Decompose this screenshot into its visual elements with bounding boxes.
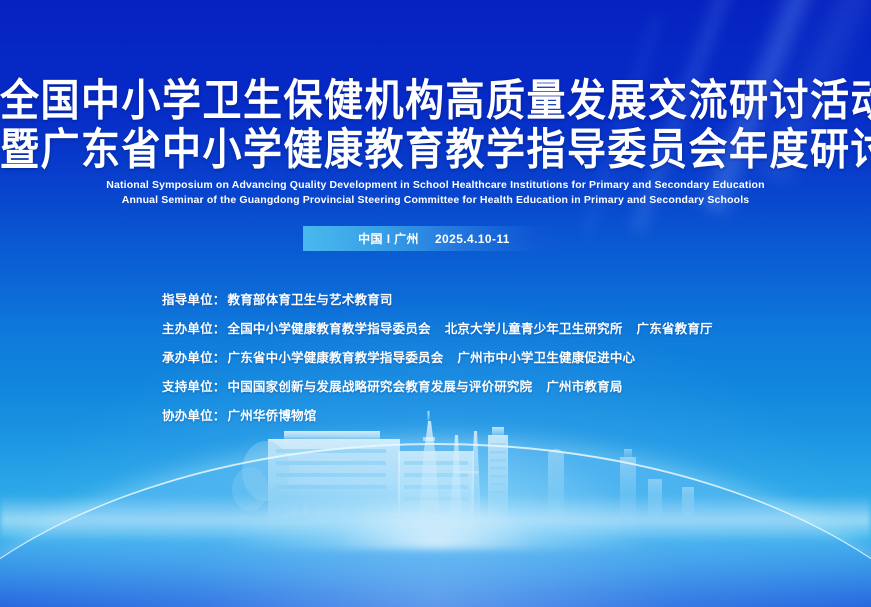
subtitle-line-1: National Symposium on Advancing Quality … [0, 178, 871, 193]
title-line-1: 全国中小学卫生保健机构高质量发展交流研讨活动 [0, 74, 871, 129]
org-values: 全国中小学健康教育教学指导委员会 北京大学儿童青少年卫生研究所 广东省教育厅 [228, 317, 713, 341]
org-row: 承办单位： 广东省中小学健康教育教学指导委员会 广州市中小学卫生健康促进中心 [162, 346, 713, 370]
org-label: 协办单位： [162, 404, 226, 428]
org-label: 主办单位： [162, 317, 226, 341]
org-row: 指导单位： 教育部体育卫生与艺术教育司 [162, 288, 713, 312]
org-values: 教育部体育卫生与艺术教育司 [228, 288, 393, 312]
org-row: 协办单位： 广州华侨博物馆 [162, 404, 713, 428]
title-line-2: 暨广东省中小学健康教育教学指导委员会年度研讨活动 [0, 123, 871, 178]
ifc-tower-icon [488, 427, 508, 517]
ground-mist [0, 495, 871, 541]
org-label: 指导单位： [162, 288, 226, 312]
org-label: 承办单位： [162, 346, 226, 370]
org-row: 支持单位： 中国国家创新与发展战略研究会教育发展与评价研究院 广州市教育局 [162, 375, 713, 399]
horizon-arc [0, 443, 871, 607]
conference-poster: 全国中小学卫生保健机构高质量发展交流研讨活动 暨广东省中小学健康教育教学指导委员… [0, 0, 871, 607]
org-values: 中国国家创新与发展战略研究会教育发展与评价研究院 广州市教育局 [228, 375, 623, 399]
org-values: 广州华侨博物馆 [228, 404, 317, 428]
org-value: 广东省中小学健康教育教学指导委员会 [228, 346, 444, 370]
banner-date: 2025.4.10-11 [435, 232, 510, 246]
org-value: 广州市教育局 [546, 375, 622, 399]
org-label: 支持单位： [162, 375, 226, 399]
org-value: 广州华侨博物馆 [228, 404, 317, 428]
banner-location: 中国 I 广州 [358, 230, 419, 247]
far-towers-icon [620, 449, 694, 517]
org-values: 广东省中小学健康教育教学指导委员会 广州市中小学卫生健康促进中心 [228, 346, 636, 370]
horizon-glow [226, 429, 646, 549]
org-value: 教育部体育卫生与艺术教育司 [228, 288, 393, 312]
org-value: 广州市中小学卫生健康促进中心 [457, 346, 635, 370]
poster-subtitle: National Symposium on Advancing Quality … [0, 178, 871, 208]
org-value: 中国国家创新与发展战略研究会教育发展与评价研究院 [228, 375, 533, 399]
org-value: 全国中小学健康教育教学指导委员会 [228, 317, 431, 341]
organization-list: 指导单位： 教育部体育卫生与艺术教育司 主办单位： 全国中小学健康教育教学指导委… [162, 288, 713, 428]
org-value: 广东省教育厅 [637, 317, 713, 341]
poster-title: 全国中小学卫生保健机构高质量发展交流研讨活动 暨广东省中小学健康教育教学指导委员… [0, 74, 871, 172]
subtitle-line-2: Annual Seminar of the Guangdong Provinci… [0, 193, 871, 208]
spire-towers-icon [450, 431, 481, 517]
org-row: 主办单位： 全国中小学健康教育教学指导委员会 北京大学儿童青少年卫生研究所 广东… [162, 317, 713, 341]
org-value: 北京大学儿童青少年卫生研究所 [445, 317, 623, 341]
mid-tower-icon [548, 449, 564, 517]
location-date-banner: 中国 I 广州 2025.4.10-11 [303, 226, 565, 251]
school-building-icon [232, 431, 474, 517]
